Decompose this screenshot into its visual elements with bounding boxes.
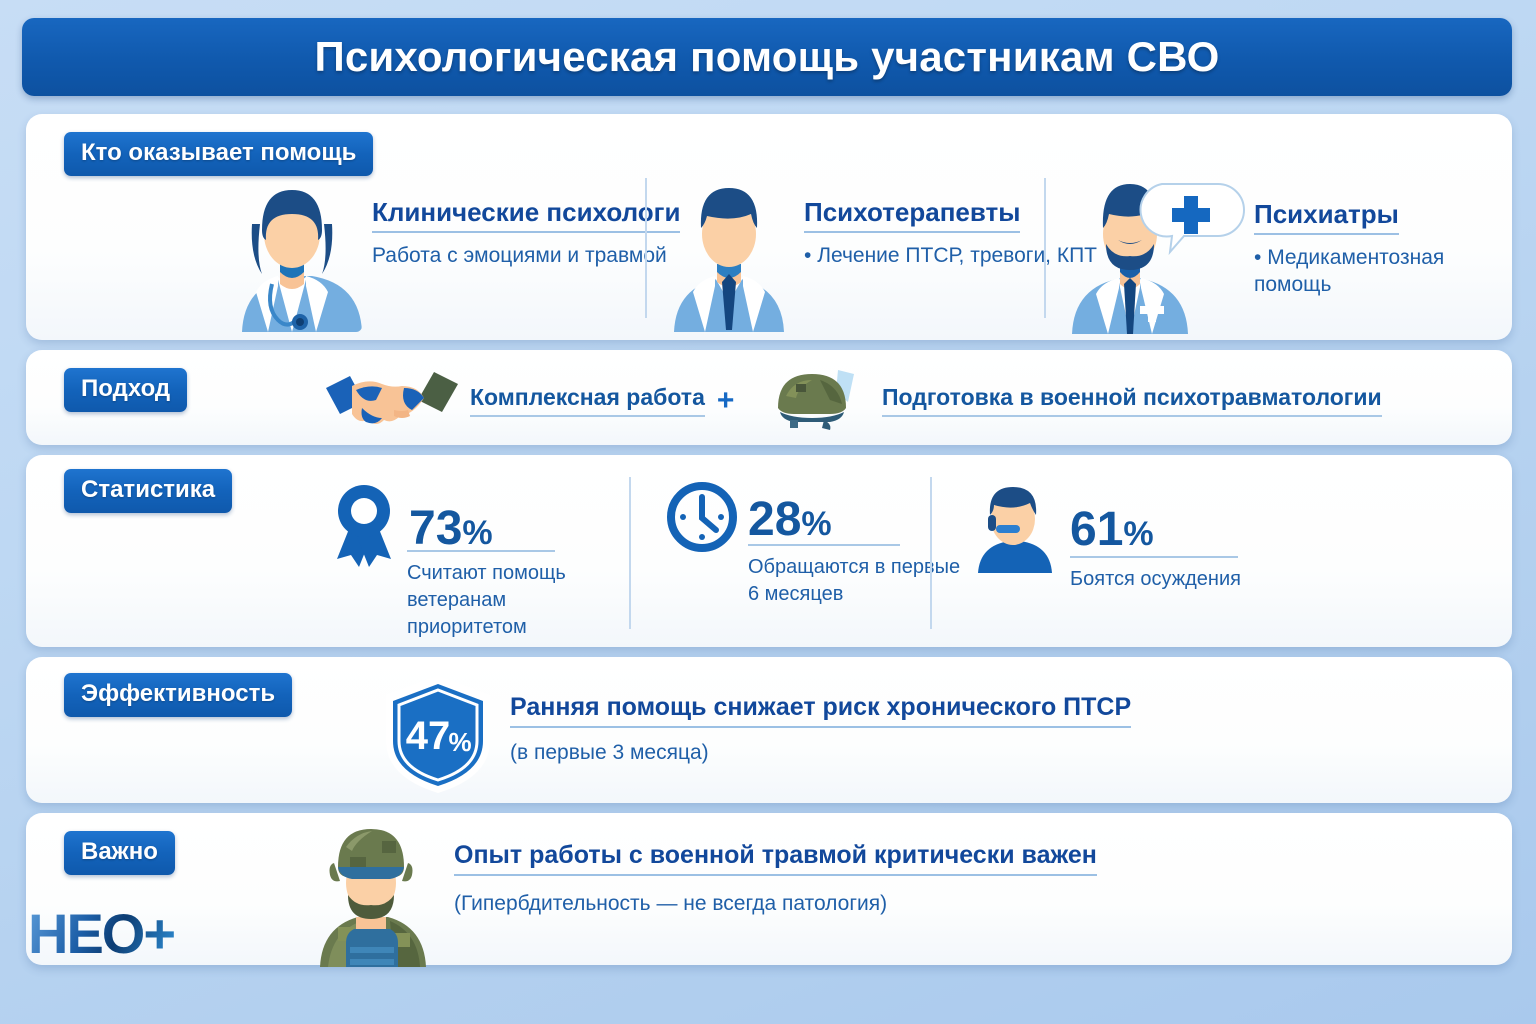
provider-desc: Работа с эмоциями и травмой [372,242,680,269]
important-sub-text: (Гипербдительность — не всегда патология… [454,892,1097,916]
provider-desc-text: Лечение ПТСР, тревоги, КПТ [817,244,1097,267]
shield-percent-icon: 47 % [378,673,498,800]
section-approach: Подход Комплексная работа + [26,350,1512,445]
stat-item-first-six-months: 28% Обращаются в первые 6 месяцев [666,481,963,608]
stat-divider [629,477,631,629]
section-badge-statistics: Статистика [64,469,232,513]
section-important: Важно [26,813,1512,965]
stat-label: Боятся осуждения [1070,566,1310,593]
approach-item-military-training: Подготовка в военной психотравматологии [766,366,1382,435]
male-doctor-avatar-icon [664,172,794,337]
stat-item-veterans-priority: 73% Считают помощь ветеранам приоритетом [329,483,587,641]
provider-title: Клинические психологи [372,198,680,233]
provider-desc: • Медикаментозная помощь [1254,244,1512,299]
svg-text:%: % [448,727,471,757]
provider-column-psychiatrists: Психиатры • Медикаментозная помощь [1062,166,1512,339]
page-title-bar: Психологическая помощь участникам СВО [22,18,1512,96]
brand-logo: НЕО+ [28,906,174,962]
provider-column-clinical-psychologists: Клинические психологи Работа с эмоциями … [222,172,680,337]
person-headset-icon [966,481,1060,578]
approach-text: Комплексная работа [470,384,705,417]
award-ribbon-icon [329,483,399,574]
plus-separator: + [717,384,735,418]
stat-underline [1070,556,1238,558]
soldier-avatar-icon [298,819,448,972]
clock-icon [666,481,738,558]
effectiveness-main-text: Ранняя помощь снижает риск хронического … [510,693,1131,728]
stat-value: 61% [1070,506,1154,554]
stat-item-fear-of-judgement: 61% Боятся осуждения [966,481,1310,593]
column-divider [1044,178,1046,318]
important-text-block: Опыт работы с военной травмой критически… [454,841,1097,916]
stat-value: 28% [748,496,832,544]
provider-text-block: Психотерапевты • Лечение ПТСР, тревоги, … [804,198,1097,269]
stat-label: Считают помощь ветеранам приоритетом [407,560,587,641]
column-divider [645,178,647,318]
svg-text:47: 47 [406,714,451,758]
female-doctor-avatar-icon [222,172,362,337]
stat-divider [930,477,932,629]
section-badge-approach: Подход [64,368,187,412]
important-main-text: Опыт работы с военной травмой критически… [454,841,1097,876]
approach-item-complex-work: Комплексная работа + [322,366,746,435]
section-badge-important: Важно [64,831,175,875]
bearded-doctor-avatar-icon [1062,166,1252,339]
stat-value: 73% [409,505,493,553]
military-helmet-icon [766,366,876,435]
effectiveness-text-block: Ранняя помощь снижает риск хронического … [510,693,1131,765]
provider-title: Психотерапевты [804,198,1020,233]
section-badge-effectiveness: Эффективность [64,673,292,717]
provider-text-block: Клинические психологи Работа с эмоциями … [372,198,680,269]
section-effectiveness: Эффективность 47 % Ранняя помощь снижает… [26,657,1512,803]
infographic-canvas: Психологическая помощь участникам СВО Кт… [0,0,1536,1024]
section-badge-who: Кто оказывает помощь [64,132,373,176]
effectiveness-sub-text: (в первые 3 месяца) [510,741,1131,765]
section-statistics: Статистика 73% Считают помощь ветеранам … [26,455,1512,647]
approach-text: Подготовка в военной психотравматологии [882,384,1382,417]
provider-column-psychotherapists: Психотерапевты • Лечение ПТСР, тревоги, … [664,172,1097,337]
bullet-icon: • [1254,246,1267,269]
bullet-icon: • [804,244,817,267]
provider-text-block: Психиатры • Медикаментозная помощь [1254,200,1512,298]
provider-desc: • Лечение ПТСР, тревоги, КПТ [804,242,1097,269]
page-title: Психологическая помощь участникам СВО [314,33,1219,81]
handshake-icon [322,366,462,435]
provider-title: Психиатры [1254,200,1399,235]
provider-desc-text: Медикаментозная помощь [1254,246,1444,296]
section-who-provides-help: Кто оказывает помощь [26,114,1512,340]
